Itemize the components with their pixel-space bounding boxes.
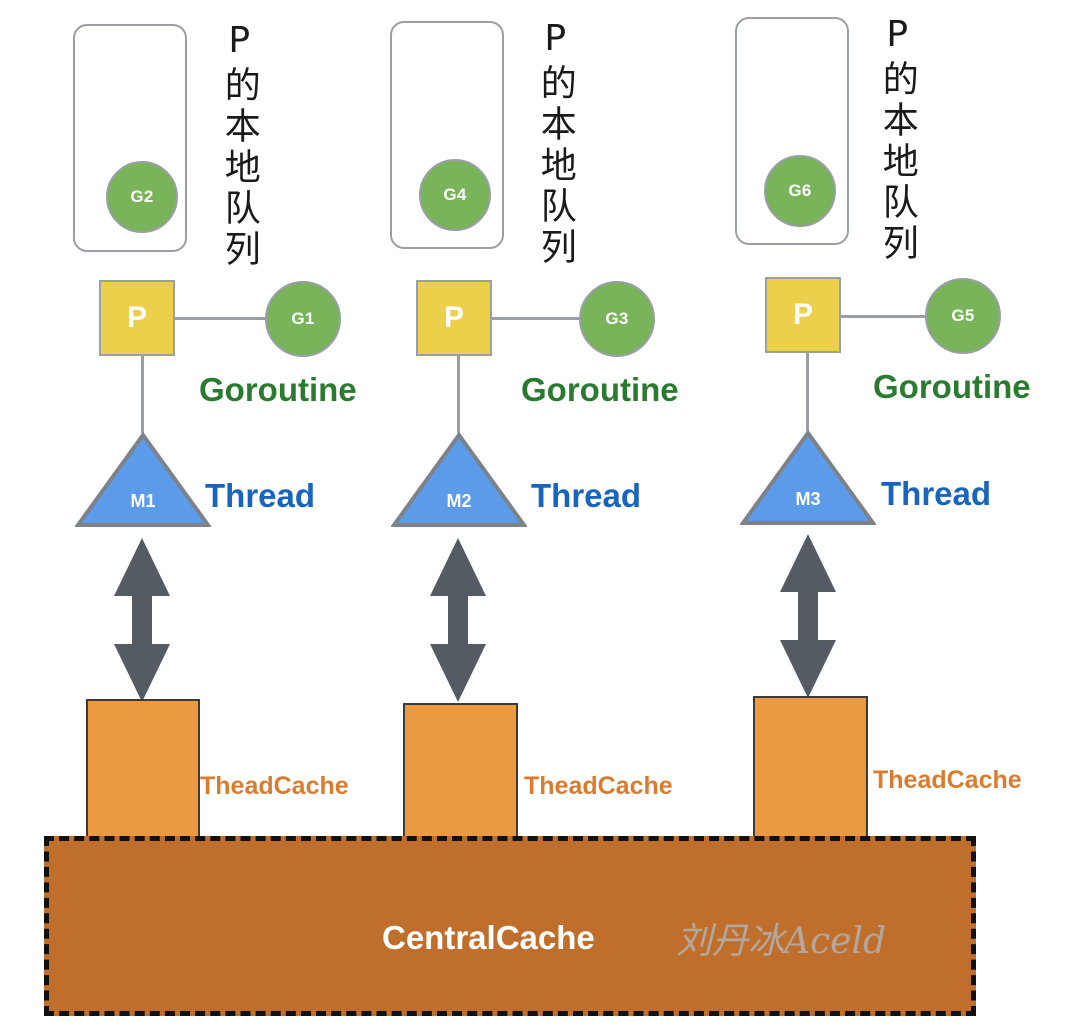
connector-p-to-g1 — [174, 317, 268, 320]
goroutine-label-1: Goroutine — [199, 371, 357, 409]
triangle-shape-icon — [75, 432, 211, 528]
connector-p-to-g3 — [491, 317, 582, 320]
bidirectional-arrow-2 — [429, 538, 487, 702]
thread-triangle-m1[interactable]: M1 — [75, 432, 211, 528]
double-arrow-icon — [779, 534, 837, 698]
goroutine-circle-g6[interactable]: G6 — [764, 155, 836, 227]
thread-text-label-3: Thread — [881, 475, 991, 513]
threadcache-label-3: TheadCache — [873, 766, 1022, 795]
triangle-shape-icon — [391, 432, 527, 528]
local-queue-label-1: P的本地队列 — [218, 20, 260, 271]
diagram-canvas: G2 P的本地队列 P G1 Goroutine M1 Thread Thead… — [0, 0, 1080, 1034]
goroutine-label-3: Goroutine — [873, 368, 1031, 406]
thread-text-label-1: Thread — [205, 477, 315, 515]
goroutine-circle-g2[interactable]: G2 — [106, 161, 178, 233]
connector-p-to-m1 — [141, 355, 144, 433]
goroutine-circle-g1[interactable]: G1 — [265, 281, 341, 357]
processor-square-3[interactable]: P — [765, 277, 841, 353]
processor-square-1[interactable]: P — [99, 280, 175, 356]
thread-label-m1: M1 — [75, 491, 211, 512]
processor-square-2[interactable]: P — [416, 280, 492, 356]
goroutine-circle-g5[interactable]: G5 — [925, 278, 1001, 354]
double-arrow-icon — [113, 538, 171, 702]
local-queue-label-2: P的本地队列 — [534, 18, 576, 269]
connector-p-to-m3 — [806, 353, 809, 431]
goroutine-circle-g4[interactable]: G4 — [419, 159, 491, 231]
bidirectional-arrow-1 — [113, 538, 171, 702]
thread-label-m3: M3 — [740, 489, 876, 510]
goroutine-label-2: Goroutine — [521, 371, 679, 409]
triangle-shape-icon — [740, 430, 876, 526]
goroutine-circle-g3[interactable]: G3 — [579, 281, 655, 357]
author-watermark: 刘丹冰Aceld — [676, 912, 886, 964]
thread-text-label-2: Thread — [531, 477, 641, 515]
bidirectional-arrow-3 — [779, 534, 837, 698]
thread-triangle-m2[interactable]: M2 — [391, 432, 527, 528]
local-queue-label-3: P的本地队列 — [876, 14, 918, 265]
threadcache-label-1: TheadCache — [200, 772, 349, 801]
centralcache-title: CentralCache — [382, 919, 595, 957]
connector-p-to-m2 — [457, 355, 460, 433]
thread-triangle-m3[interactable]: M3 — [740, 430, 876, 526]
double-arrow-icon — [429, 538, 487, 702]
thread-label-m2: M2 — [391, 491, 527, 512]
threadcache-label-2: TheadCache — [524, 772, 673, 801]
connector-p-to-g5 — [840, 315, 928, 318]
